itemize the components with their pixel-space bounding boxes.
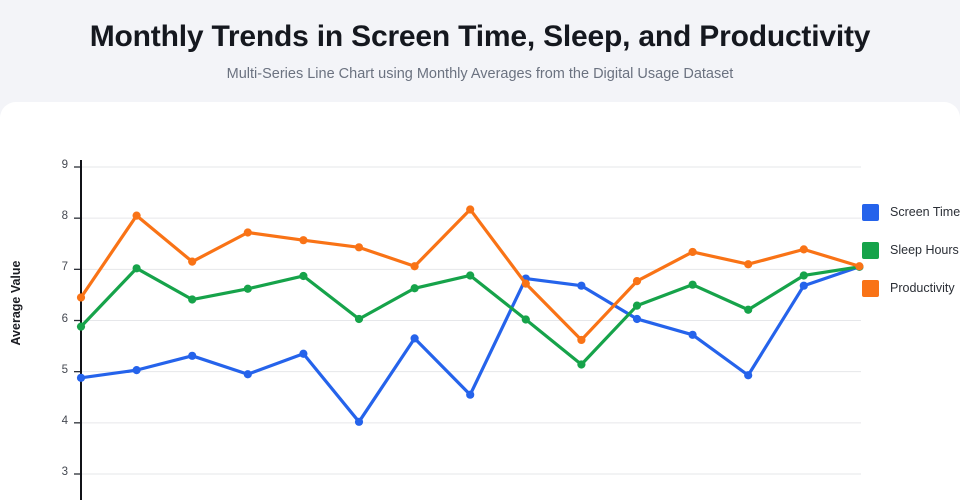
legend-item[interactable]: Productivity (862, 276, 960, 300)
data-point[interactable] (299, 236, 307, 244)
data-point[interactable] (188, 295, 196, 303)
y-tick-label: 8 (38, 210, 68, 222)
data-point[interactable] (744, 306, 752, 314)
data-point[interactable] (133, 212, 141, 220)
data-point[interactable] (522, 280, 530, 288)
data-point[interactable] (77, 374, 85, 382)
data-point[interactable] (466, 205, 474, 213)
data-point[interactable] (188, 258, 196, 266)
legend-item[interactable]: Sleep Hours (862, 238, 960, 262)
data-point[interactable] (800, 271, 808, 279)
data-point[interactable] (689, 331, 697, 339)
data-point[interactable] (355, 315, 363, 323)
data-point[interactable] (244, 285, 252, 293)
legend-item[interactable]: Screen Time (862, 200, 960, 224)
data-point[interactable] (188, 352, 196, 360)
y-tick-label: 7 (38, 261, 68, 273)
legend-label: Screen Time (890, 205, 960, 219)
series-line-sleep-hours (81, 267, 859, 365)
data-point[interactable] (633, 277, 641, 285)
data-point[interactable] (522, 315, 530, 323)
data-point[interactable] (411, 334, 419, 342)
legend-label: Sleep Hours (890, 243, 959, 257)
data-point[interactable] (355, 418, 363, 426)
y-tick-label: 6 (38, 313, 68, 325)
legend-swatch-icon (862, 280, 879, 297)
data-point[interactable] (244, 370, 252, 378)
data-point[interactable] (77, 323, 85, 331)
legend-label: Productivity (890, 281, 955, 295)
data-point[interactable] (744, 260, 752, 268)
plot-area: 3456789 Average Value (0, 0, 960, 500)
data-point[interactable] (299, 272, 307, 280)
data-point[interactable] (244, 228, 252, 236)
data-point[interactable] (633, 302, 641, 310)
data-point[interactable] (689, 281, 697, 289)
data-point[interactable] (633, 315, 641, 323)
data-point[interactable] (689, 248, 697, 256)
line-chart-svg (0, 0, 960, 500)
data-point[interactable] (411, 284, 419, 292)
data-point[interactable] (133, 264, 141, 272)
y-axis-title: Average Value (9, 243, 23, 363)
y-tick-label: 3 (38, 466, 68, 478)
chart-legend: Screen TimeSleep HoursProductivity (862, 200, 960, 314)
data-point[interactable] (744, 371, 752, 379)
data-point[interactable] (577, 336, 585, 344)
data-point[interactable] (466, 271, 474, 279)
data-point[interactable] (466, 391, 474, 399)
data-point[interactable] (133, 366, 141, 374)
legend-swatch-icon (862, 242, 879, 259)
legend-swatch-icon (862, 204, 879, 221)
data-point[interactable] (577, 360, 585, 368)
data-point[interactable] (355, 243, 363, 251)
data-point[interactable] (800, 245, 808, 253)
y-tick-label: 9 (38, 159, 68, 171)
data-point[interactable] (411, 262, 419, 270)
series-layer (77, 205, 864, 426)
y-tick-label: 5 (38, 364, 68, 376)
data-point[interactable] (299, 350, 307, 358)
data-point[interactable] (577, 282, 585, 290)
data-point[interactable] (800, 282, 808, 290)
data-point[interactable] (77, 293, 85, 301)
chart-page: Monthly Trends in Screen Time, Sleep, an… (0, 0, 960, 500)
y-tick-label: 4 (38, 415, 68, 427)
